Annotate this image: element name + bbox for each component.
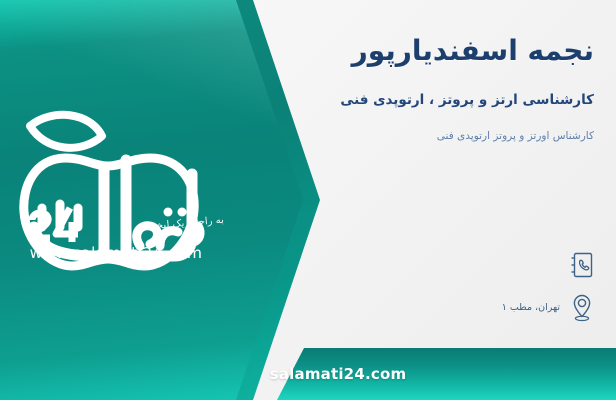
contact-phone-row[interactable] — [560, 250, 596, 280]
specialty-secondary-label: کارشناس اورتز و پروتز ارتوپدی فنی — [437, 130, 594, 144]
leaf-icon — [30, 115, 102, 148]
page-title: نجمه اسفندیارپور — [352, 34, 594, 68]
specialty-primary-label: کارشناسی ارتز و پروتز ، ارتوپدی فنی — [340, 92, 594, 110]
phone-book-icon — [568, 250, 596, 280]
logo-website[interactable]: www.salamati24.com — [18, 244, 214, 262]
business-card: به راحتی یک لبخند www.salamati24.com نجم… — [0, 0, 616, 400]
location-pin-icon — [568, 292, 596, 322]
logo-wordmark-strokes — [34, 160, 200, 256]
contact-address-row[interactable]: تهران، مطب ۱ — [502, 292, 596, 322]
brand-logo[interactable]: به راحتی یک لبخند www.salamati24.com — [8, 96, 226, 276]
footer-website-label[interactable]: salamati24.com — [0, 348, 616, 400]
contact-address-label: تهران، مطب ۱ — [502, 302, 560, 313]
